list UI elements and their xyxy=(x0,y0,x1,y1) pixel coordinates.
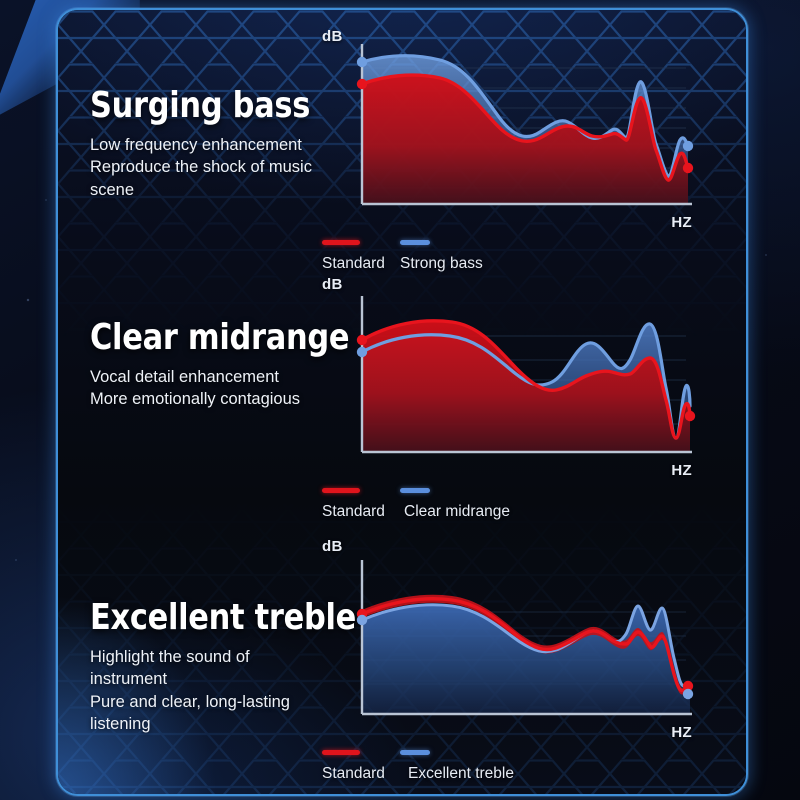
legend-labels: Standard Clear midrange xyxy=(322,503,692,525)
y-axis-label: dB xyxy=(322,276,343,293)
legend-excellent-treble: Standard Excellent treble xyxy=(322,748,692,787)
text-block-surging-bass: Surging bass Low frequency enhancement R… xyxy=(90,88,350,201)
endpoint-dot-standard-start xyxy=(357,335,367,345)
description-line: Pure and clear, long-lasting xyxy=(90,691,350,713)
description-line: instrument xyxy=(90,668,350,690)
x-axis-label: HZ xyxy=(671,724,692,741)
legend-label-enhanced: Strong bass xyxy=(400,255,483,273)
headline-excellent-treble: Excellent treble xyxy=(90,600,334,637)
endpoint-dot-enhanced-end xyxy=(683,141,693,151)
infographic-root: Surging bass Low frequency enhancement R… xyxy=(0,0,800,800)
y-axis-label: dB xyxy=(322,28,343,45)
endpoint-dot-standard-end xyxy=(685,411,695,421)
legend-swatch-enhanced xyxy=(400,240,430,245)
legend-swatches xyxy=(322,486,692,496)
text-block-clear-midrange: Clear midrange Vocal detail enhancement … xyxy=(90,320,350,411)
endpoint-dot-enhanced-start xyxy=(357,347,367,357)
endpoint-dot-enhanced-end xyxy=(683,689,693,699)
endpoint-dot-standard-end xyxy=(683,163,693,173)
section-clear-midrange: Clear midrange Vocal detail enhancement … xyxy=(58,274,746,524)
legend-swatch-standard xyxy=(322,488,360,493)
description-excellent-treble: Highlight the sound of instrument Pure a… xyxy=(90,646,350,736)
legend-swatch-standard xyxy=(322,240,360,245)
x-axis-label: HZ xyxy=(671,214,692,231)
description-line: Vocal detail enhancement xyxy=(90,366,350,388)
description-line: Reproduce the shock of music xyxy=(90,156,350,178)
legend-label-enhanced: Clear midrange xyxy=(404,503,510,521)
y-axis-label: dB xyxy=(322,538,343,555)
description-surging-bass: Low frequency enhancement Reproduce the … xyxy=(90,134,350,201)
description-line: listening xyxy=(90,713,350,735)
endpoint-dot-standard-start xyxy=(357,79,367,89)
legend-label-standard: Standard xyxy=(322,255,385,273)
legend-label-standard: Standard xyxy=(322,765,385,783)
x-axis-label: HZ xyxy=(671,462,692,479)
description-clear-midrange: Vocal detail enhancement More emotionall… xyxy=(90,366,350,411)
description-line: scene xyxy=(90,179,350,201)
chart-surging-bass: dB HZ Standard Strong bass xyxy=(316,26,696,231)
legend-swatch-enhanced xyxy=(400,750,430,755)
legend-swatches xyxy=(322,748,692,758)
legend-swatches xyxy=(322,238,692,248)
section-surging-bass: Surging bass Low frequency enhancement R… xyxy=(58,26,746,276)
chart-svg-surging-bass xyxy=(316,26,696,226)
description-line: Highlight the sound of xyxy=(90,646,350,668)
legend-clear-midrange: Standard Clear midrange xyxy=(322,486,692,525)
endpoint-dot-enhanced-start xyxy=(357,615,367,625)
legend-label-enhanced: Excellent treble xyxy=(408,765,514,783)
main-panel: Surging bass Low frequency enhancement R… xyxy=(56,8,748,796)
description-line: Low frequency enhancement xyxy=(90,134,350,156)
endpoint-dot-enhanced-start xyxy=(357,57,367,67)
legend-swatch-enhanced xyxy=(400,488,430,493)
legend-surging-bass: Standard Strong bass xyxy=(322,238,692,277)
legend-labels: Standard Excellent treble xyxy=(322,765,692,787)
chart-svg-clear-midrange xyxy=(316,274,696,474)
text-block-excellent-treble: Excellent treble Highlight the sound of … xyxy=(90,600,350,735)
chart-clear-midrange: dB HZ Standard Clear midrange xyxy=(316,274,696,479)
legend-swatch-standard xyxy=(322,750,360,755)
legend-label-standard: Standard xyxy=(322,503,385,521)
headline-clear-midrange: Clear midrange xyxy=(90,320,334,357)
chart-excellent-treble: dB HZ Standard Excellent treble xyxy=(316,536,696,741)
series-area-enhanced xyxy=(362,605,690,714)
section-excellent-treble: Excellent treble Highlight the sound of … xyxy=(58,530,746,790)
headline-surging-bass: Surging bass xyxy=(90,88,334,125)
description-line: More emotionally contagious xyxy=(90,388,350,410)
chart-svg-excellent-treble xyxy=(316,536,696,736)
